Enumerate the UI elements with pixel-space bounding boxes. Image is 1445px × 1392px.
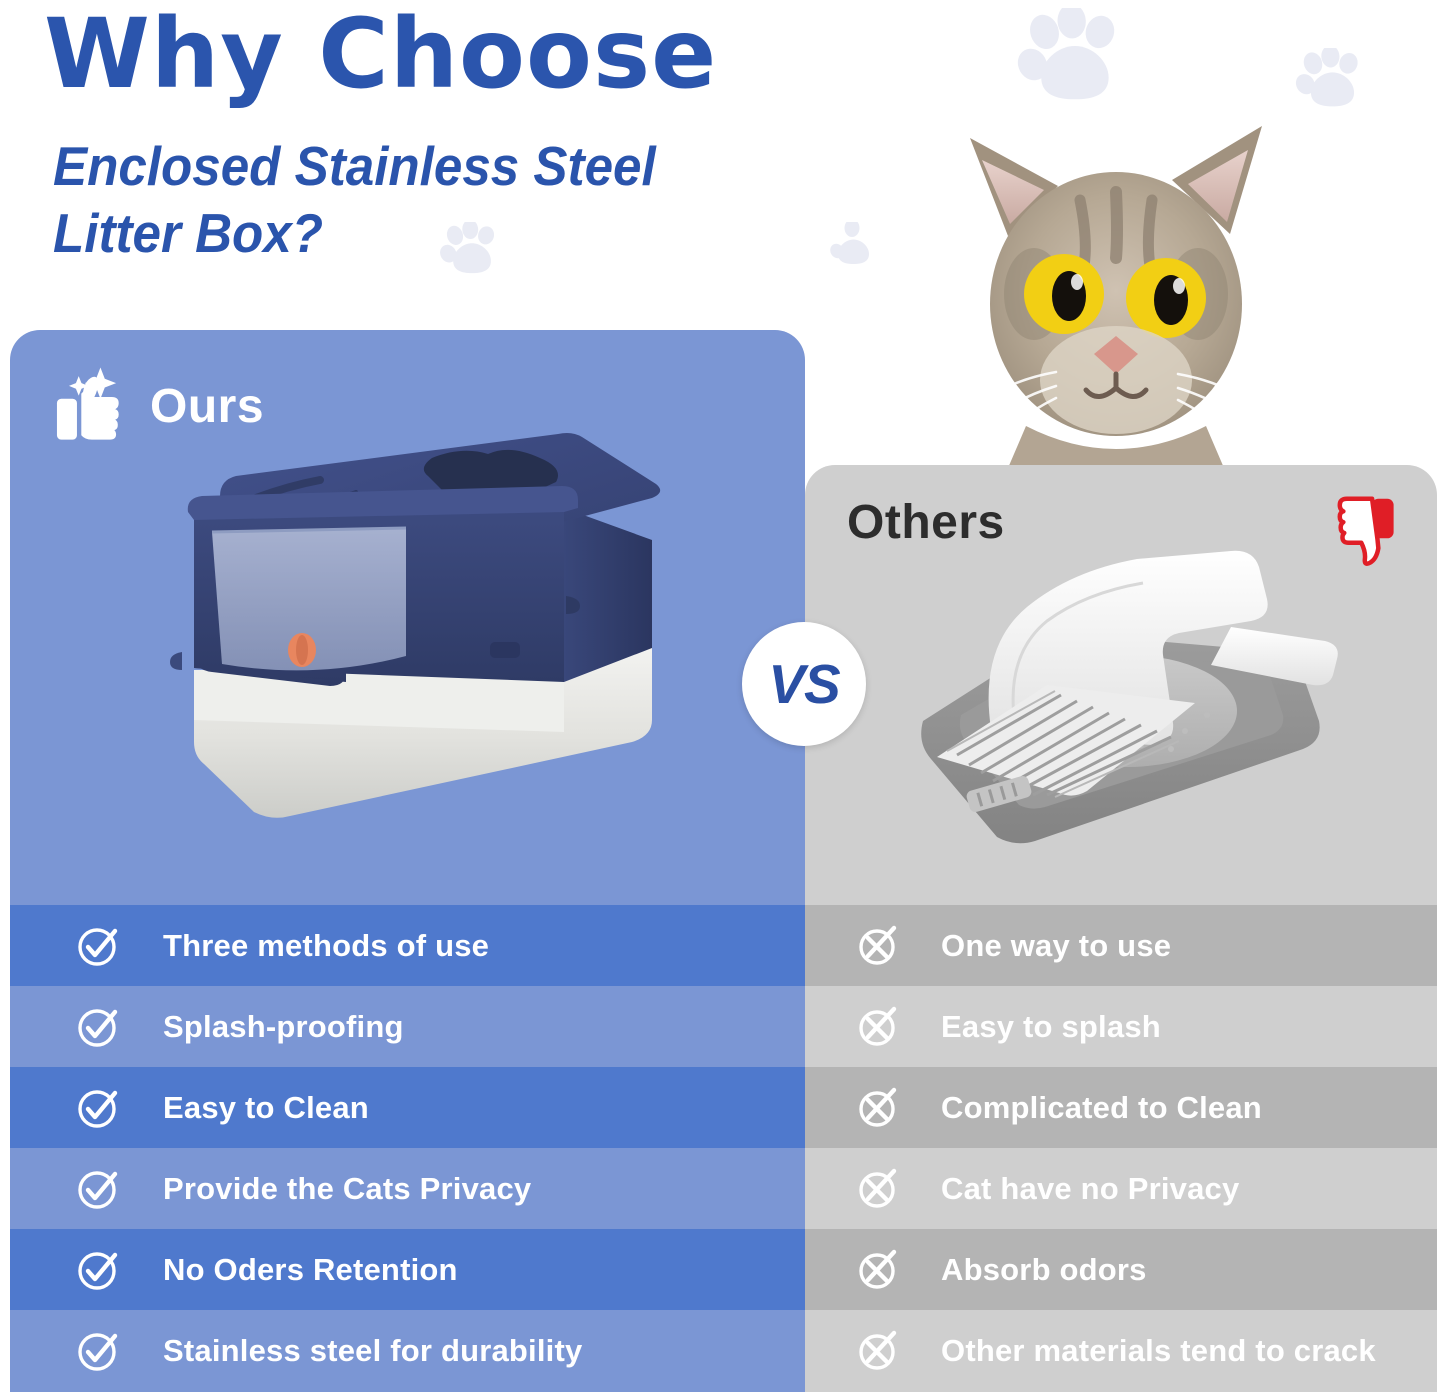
- paw-print-icon: [826, 222, 876, 268]
- list-item: No Oders Retention: [10, 1229, 805, 1310]
- list-item: Easy to splash: [805, 986, 1437, 1067]
- others-panel: Others: [805, 465, 1437, 1392]
- feature-label: Other materials tend to crack: [941, 1333, 1376, 1369]
- subtitle-line-2: Litter Box?: [53, 200, 656, 267]
- subtitle-line-1: Enclosed Stainless Steel: [53, 133, 656, 200]
- feature-label: Three methods of use: [163, 928, 489, 964]
- ours-panel: Ours: [10, 330, 805, 1392]
- others-product-image: [895, 515, 1345, 865]
- vs-badge: VS: [742, 622, 866, 746]
- list-item: Other materials tend to crack: [805, 1310, 1437, 1391]
- list-item: Absorb odors: [805, 1229, 1437, 1310]
- ours-product-image: [160, 420, 680, 840]
- circle-check-icon: [75, 1085, 121, 1131]
- list-item: Three methods of use: [10, 905, 805, 986]
- circle-check-icon: [75, 1328, 121, 1374]
- feature-label: Splash-proofing: [163, 1009, 404, 1045]
- circle-x-icon: [855, 1328, 901, 1374]
- feature-label: Provide the Cats Privacy: [163, 1171, 531, 1207]
- page-subtitle: Enclosed Stainless Steel Litter Box?: [53, 133, 656, 267]
- circle-check-icon: [75, 1166, 121, 1212]
- circle-x-icon: [855, 1247, 901, 1293]
- circle-x-icon: [855, 1166, 901, 1212]
- circle-x-icon: [855, 1085, 901, 1131]
- ours-feature-list: Three methods of use Splash-proofing: [10, 905, 805, 1391]
- page-title: Why Choose: [44, 2, 717, 106]
- list-item: Easy to Clean: [10, 1067, 805, 1148]
- feature-label: Easy to splash: [941, 1009, 1161, 1045]
- feature-label: Cat have no Privacy: [941, 1171, 1239, 1207]
- feature-label: Easy to Clean: [163, 1090, 369, 1126]
- feature-label: No Oders Retention: [163, 1252, 458, 1288]
- comparison-infographic: Why Choose Enclosed Stainless Steel Litt…: [0, 0, 1445, 1392]
- feature-label: Absorb odors: [941, 1252, 1147, 1288]
- feature-label: Stainless steel for durability: [163, 1333, 582, 1369]
- list-item: Stainless steel for durability: [10, 1310, 805, 1391]
- paw-print-icon: [1293, 48, 1365, 112]
- thumbs-up-sparkle-icon: [48, 364, 132, 449]
- list-item: Splash-proofing: [10, 986, 805, 1067]
- circle-check-icon: [75, 1247, 121, 1293]
- cat-photo: [930, 108, 1302, 468]
- circle-x-icon: [855, 1004, 901, 1050]
- list-item: Cat have no Privacy: [805, 1148, 1437, 1229]
- feature-label: Complicated to Clean: [941, 1090, 1262, 1126]
- circle-check-icon: [75, 1004, 121, 1050]
- list-item: Complicated to Clean: [805, 1067, 1437, 1148]
- list-item: One way to use: [805, 905, 1437, 986]
- circle-check-icon: [75, 923, 121, 969]
- paw-print-icon: [1012, 8, 1127, 108]
- others-feature-list: One way to use Easy to splash: [805, 905, 1437, 1391]
- vs-label: VS: [768, 652, 839, 716]
- feature-label: One way to use: [941, 928, 1171, 964]
- list-item: Provide the Cats Privacy: [10, 1148, 805, 1229]
- circle-x-icon: [855, 923, 901, 969]
